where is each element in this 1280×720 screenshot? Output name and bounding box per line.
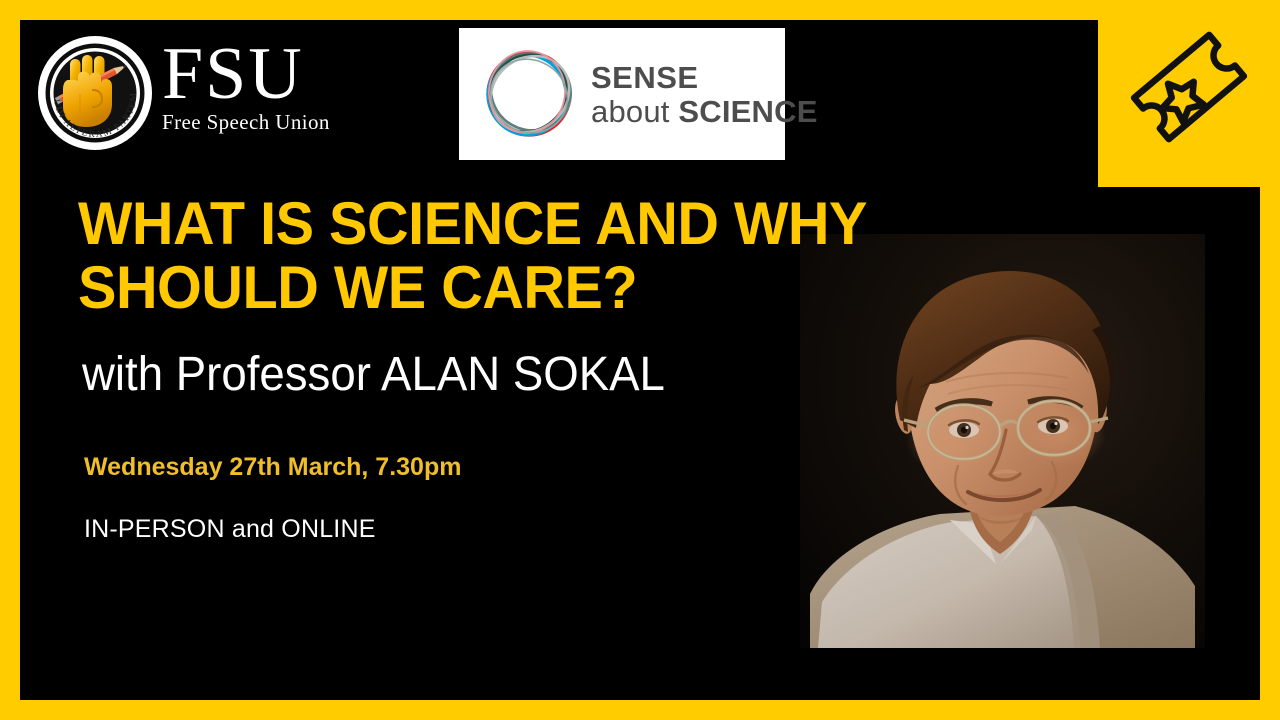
sas-word-about: about	[591, 94, 678, 129]
overlapping-circles-icon	[477, 42, 581, 146]
ticket-star-icon	[1124, 22, 1254, 152]
sense-about-science-wordmark: SENSE about SCIENCE	[591, 62, 818, 127]
fsu-logo: AUDI ALTERAM PARTEM FSU Free Speech Unio…	[36, 34, 336, 156]
event-poster: AUDI ALTERAM PARTEM FSU Free Speech Unio…	[0, 0, 1280, 720]
fsu-abbreviation: FSU	[162, 36, 342, 112]
sense-about-science-logo: SENSE about SCIENCE	[459, 28, 785, 160]
fist-holding-pencil-icon: AUDI ALTERAM PARTEM	[36, 34, 154, 152]
sas-word-science: SCIENCE	[678, 94, 817, 129]
event-format: IN-PERSON and ONLINE	[84, 514, 376, 544]
fsu-full-name: Free Speech Union	[162, 110, 342, 134]
event-date-time: Wednesday 27th March, 7.30pm	[84, 452, 461, 482]
ticket-accent-block	[1098, 0, 1280, 187]
headline-line-2: SHOULD WE CARE?	[78, 256, 1000, 320]
fsu-wordmark: FSU Free Speech Union	[162, 36, 342, 154]
sas-line-sense: SENSE	[591, 62, 818, 93]
speaker-name: with Professor ALAN SOKAL	[82, 348, 665, 402]
sas-line-about-science: about SCIENCE	[591, 96, 818, 127]
page-title: WHAT IS SCIENCE AND WHY SHOULD WE CARE?	[78, 192, 1000, 320]
headline-line-1: WHAT IS SCIENCE AND WHY	[78, 192, 1000, 256]
